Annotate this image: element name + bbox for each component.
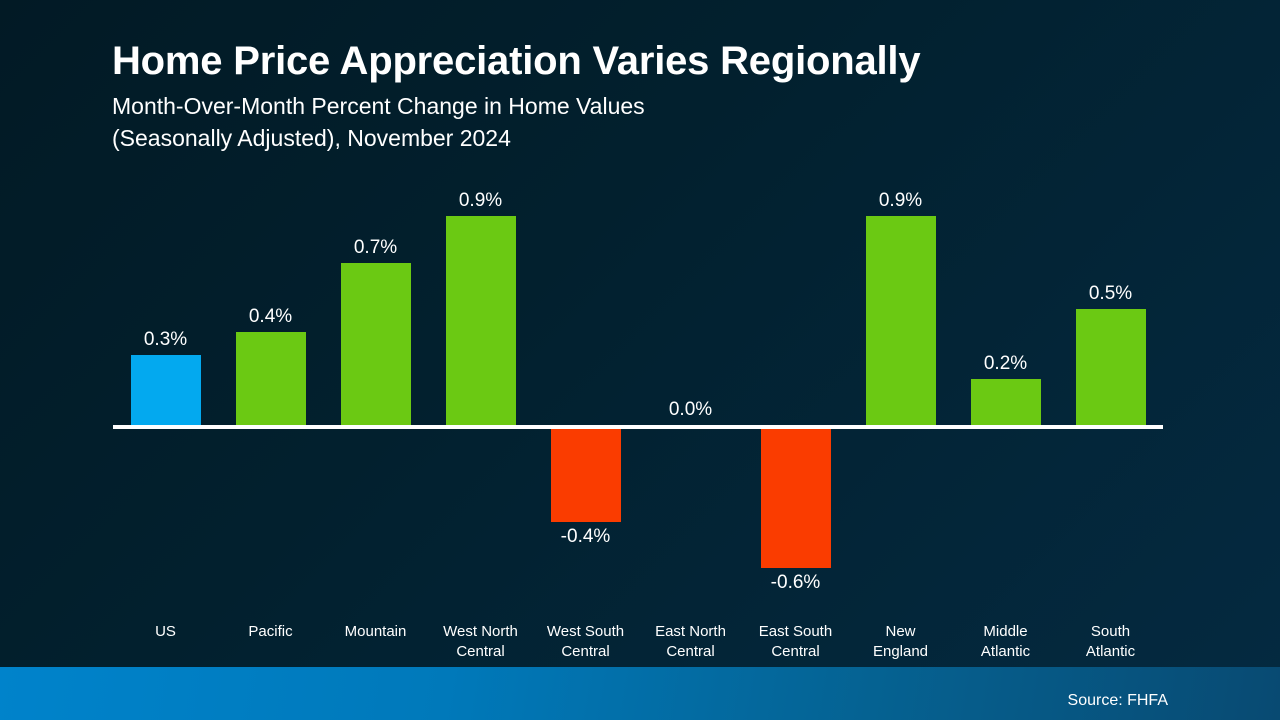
bar-value-label: -0.6% xyxy=(771,572,821,594)
bar-group[interactable]: 0.9% xyxy=(428,185,533,610)
category-label-line: South xyxy=(1058,622,1163,642)
bar[interactable] xyxy=(236,332,306,425)
bar[interactable] xyxy=(131,355,201,425)
bar-group[interactable]: 0.7% xyxy=(323,185,428,610)
category-label: NewEngland xyxy=(848,622,953,662)
bar-value-label: 0.0% xyxy=(669,399,712,421)
bar-value-label: 0.7% xyxy=(354,237,397,259)
bar[interactable] xyxy=(971,379,1041,425)
bar[interactable] xyxy=(761,429,831,568)
bar[interactable] xyxy=(866,216,936,425)
bar-value-label: 0.9% xyxy=(879,190,922,212)
category-label-line: Middle xyxy=(953,622,1058,642)
category-label: Pacific xyxy=(218,622,323,642)
bar[interactable] xyxy=(341,263,411,425)
bar[interactable] xyxy=(446,216,516,425)
category-label-line: West North xyxy=(428,622,533,642)
category-label: US xyxy=(113,622,218,642)
bar[interactable] xyxy=(551,429,621,522)
category-label-line: New xyxy=(848,622,953,642)
bar-group[interactable]: 0.2% xyxy=(953,185,1058,610)
category-label: East SouthCentral xyxy=(743,622,848,662)
slide-canvas: Home Price Appreciation Varies Regionall… xyxy=(0,0,1280,720)
category-label: Mountain xyxy=(323,622,428,642)
bar[interactable] xyxy=(1076,309,1146,425)
chart-subtitle-line-1: Month-Over-Month Percent Change in Home … xyxy=(112,91,1162,123)
bar-chart-plot-area: 0.3%0.4%0.7%0.9%-0.4%0.0%-0.6%0.9%0.2%0.… xyxy=(113,185,1163,610)
bar-group[interactable]: 0.3% xyxy=(113,185,218,610)
category-axis: USPacificMountainWest NorthCentralWest S… xyxy=(113,622,1163,666)
category-label-line: US xyxy=(113,622,218,642)
bar-group[interactable]: 0.9% xyxy=(848,185,953,610)
category-label-line: England xyxy=(848,642,953,662)
bar-group[interactable]: -0.4% xyxy=(533,185,638,610)
category-label-line: East South xyxy=(743,622,848,642)
bar-value-label: 0.5% xyxy=(1089,283,1132,305)
category-label-line: Atlantic xyxy=(1058,642,1163,662)
category-label-line: Central xyxy=(428,642,533,662)
category-label-line: West South xyxy=(533,622,638,642)
category-label: SouthAtlantic xyxy=(1058,622,1163,662)
bar-value-label: -0.4% xyxy=(561,526,611,548)
category-label-line: East North xyxy=(638,622,743,642)
category-label-line: Atlantic xyxy=(953,642,1058,662)
category-label-line: Central xyxy=(743,642,848,662)
category-label-line: Central xyxy=(533,642,638,662)
bar-value-label: 0.2% xyxy=(984,353,1027,375)
bar-value-label: 0.3% xyxy=(144,329,187,351)
category-label: East NorthCentral xyxy=(638,622,743,662)
chart-subtitle-line-2: (Seasonally Adjusted), November 2024 xyxy=(112,123,1162,155)
category-label: MiddleAtlantic xyxy=(953,622,1058,662)
bar-group[interactable]: 0.5% xyxy=(1058,185,1163,610)
chart-subtitle: Month-Over-Month Percent Change in Home … xyxy=(112,91,1162,154)
category-label-line: Pacific xyxy=(218,622,323,642)
bar-value-label: 0.9% xyxy=(459,190,502,212)
category-label-line: Central xyxy=(638,642,743,662)
bar-group[interactable]: -0.6% xyxy=(743,185,848,610)
page-title: Home Price Appreciation Varies Regionall… xyxy=(112,40,1162,82)
footer-band: Source: FHFA xyxy=(0,667,1280,720)
source-label: Source: FHFA xyxy=(1068,692,1168,710)
category-label: West NorthCentral xyxy=(428,622,533,662)
bar-group[interactable]: 0.4% xyxy=(218,185,323,610)
category-label: West SouthCentral xyxy=(533,622,638,662)
bar-group[interactable]: 0.0% xyxy=(638,185,743,610)
chart-header: Home Price Appreciation Varies Regionall… xyxy=(112,40,1162,154)
bar-value-label: 0.4% xyxy=(249,306,292,328)
category-label-line: Mountain xyxy=(323,622,428,642)
